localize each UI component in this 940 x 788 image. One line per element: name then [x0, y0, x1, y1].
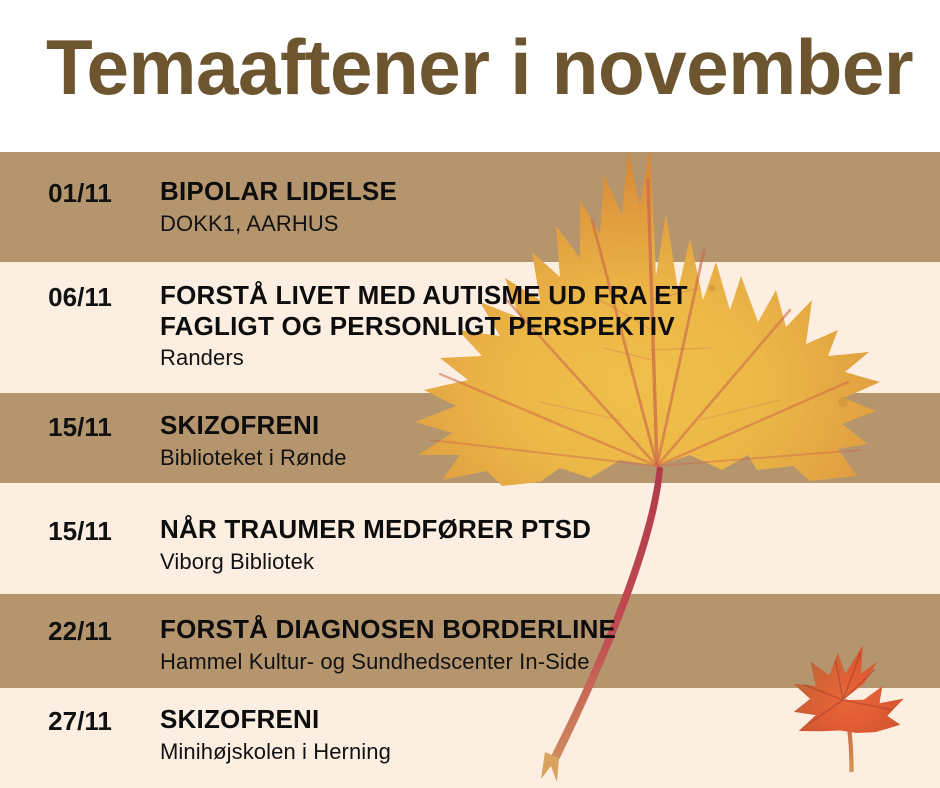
event-venue: Randers: [160, 344, 940, 372]
event-venue: Hammel Kultur- og Sundhedscenter In-Side: [160, 648, 940, 676]
event-title: FORSTÅ LIVET MED AUTISME UD FRA ET FAGLI…: [160, 280, 940, 341]
event-title: BIPOLAR LIDELSE: [160, 176, 940, 207]
event-row[interactable]: 01/11 BIPOLAR LIDELSE DOKK1, AARHUS: [0, 176, 940, 237]
event-row[interactable]: 15/11 NÅR TRAUMER MEDFØRER PTSD Viborg B…: [0, 514, 940, 575]
event-title: NÅR TRAUMER MEDFØRER PTSD: [160, 514, 940, 545]
event-row[interactable]: 06/11 FORSTÅ LIVET MED AUTISME UD FRA ET…: [0, 280, 940, 372]
event-body: FORSTÅ DIAGNOSEN BORDERLINE Hammel Kultu…: [160, 614, 940, 675]
page-title: Temaaftener i november: [46, 28, 913, 106]
event-venue: Viborg Bibliotek: [160, 548, 940, 576]
poster-header: Temaaftener i november: [0, 0, 940, 152]
event-row[interactable]: 22/11 FORSTÅ DIAGNOSEN BORDERLINE Hammel…: [0, 614, 940, 675]
event-list: 01/11 BIPOLAR LIDELSE DOKK1, AARHUS 06/1…: [0, 152, 940, 788]
event-date: 06/11: [0, 280, 160, 313]
event-body: SKIZOFRENI Biblioteket i Rønde: [160, 410, 940, 471]
poster-canvas: 01/11 BIPOLAR LIDELSE DOKK1, AARHUS 06/1…: [0, 0, 940, 788]
event-date: 22/11: [0, 614, 160, 647]
event-row[interactable]: 15/11 SKIZOFRENI Biblioteket i Rønde: [0, 410, 940, 471]
event-title: FORSTÅ DIAGNOSEN BORDERLINE: [160, 614, 940, 645]
event-title: SKIZOFRENI: [160, 410, 940, 441]
event-date: 01/11: [0, 176, 160, 209]
event-body: NÅR TRAUMER MEDFØRER PTSD Viborg Bibliot…: [160, 514, 940, 575]
event-body: BIPOLAR LIDELSE DOKK1, AARHUS: [160, 176, 940, 237]
event-date: 15/11: [0, 410, 160, 443]
event-title: SKIZOFRENI: [160, 704, 940, 735]
event-venue: DOKK1, AARHUS: [160, 210, 940, 238]
event-venue: Biblioteket i Rønde: [160, 444, 940, 472]
event-body: FORSTÅ LIVET MED AUTISME UD FRA ET FAGLI…: [160, 280, 940, 372]
event-venue: Minihøjskolen i Herning: [160, 738, 940, 766]
event-date: 15/11: [0, 514, 160, 547]
event-date: 27/11: [0, 704, 160, 737]
event-row[interactable]: 27/11 SKIZOFRENI Minihøjskolen i Herning: [0, 704, 940, 765]
event-body: SKIZOFRENI Minihøjskolen i Herning: [160, 704, 940, 765]
